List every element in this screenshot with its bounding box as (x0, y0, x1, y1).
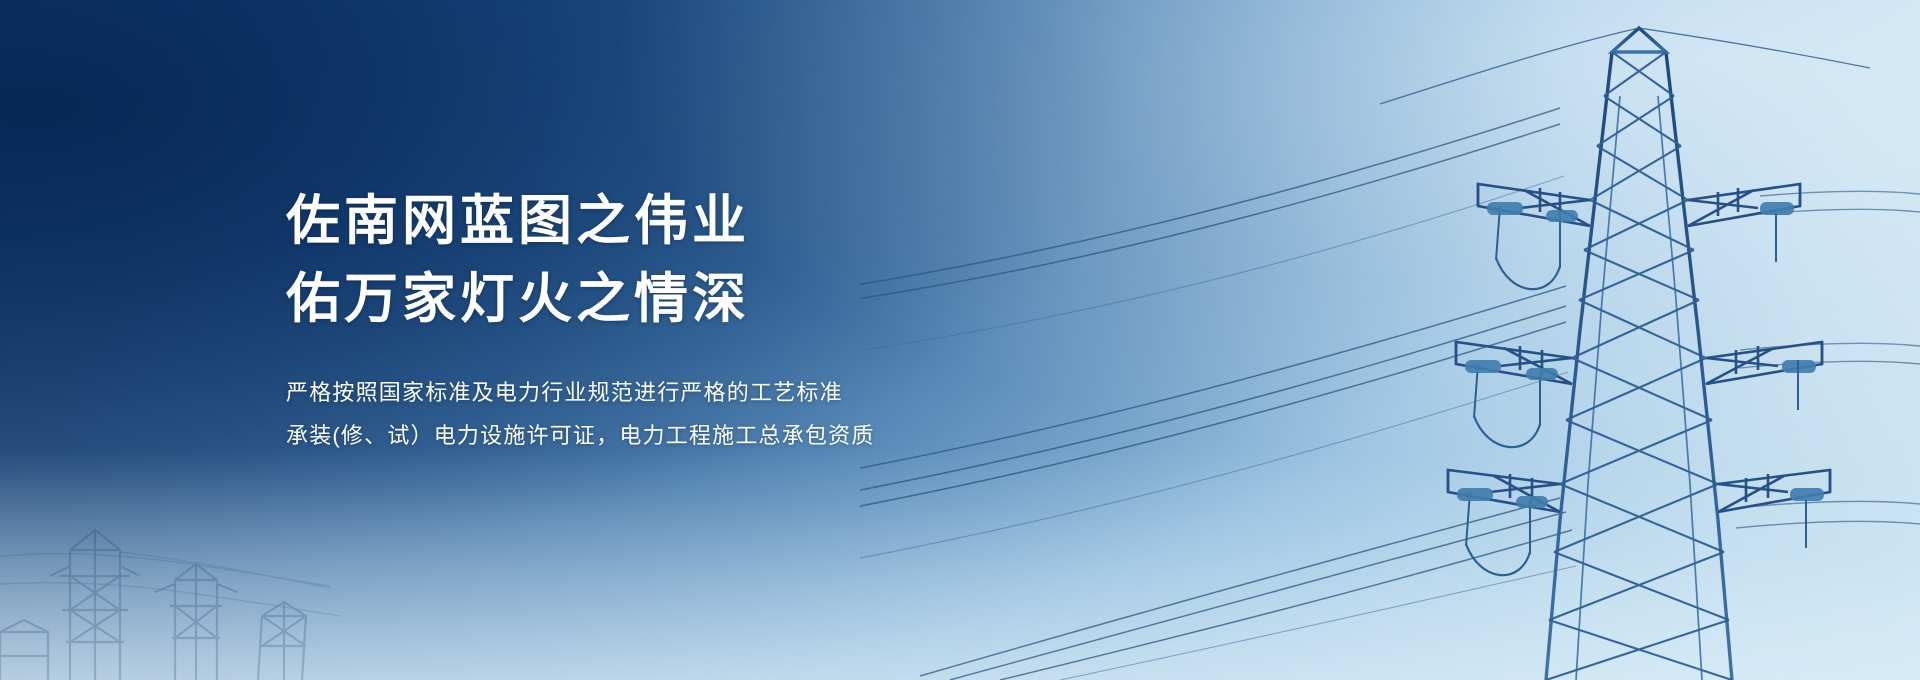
subtitle-group: 严格按照国家标准及电力行业规范进行严格的工艺标准 承装(修、试）电力设施许可证，… (286, 372, 1266, 458)
headline-line-1: 佐南网蓝图之伟业 (286, 186, 1266, 258)
subtitle-line-1: 严格按照国家标准及电力行业规范进行严格的工艺标准 (286, 372, 1266, 415)
hero-banner: 佐南网蓝图之伟业 佑万家灯火之情深 严格按照国家标准及电力行业规范进行严格的工艺… (0, 0, 1920, 680)
headline-line-2: 佑万家灯火之情深 (286, 264, 1266, 336)
banner-copy: 佐南网蓝图之伟业 佑万家灯火之情深 严格按照国家标准及电力行业规范进行严格的工艺… (286, 186, 1266, 457)
subtitle-line-2: 承装(修、试）电力设施许可证，电力工程施工总承包资质 (286, 415, 1266, 458)
